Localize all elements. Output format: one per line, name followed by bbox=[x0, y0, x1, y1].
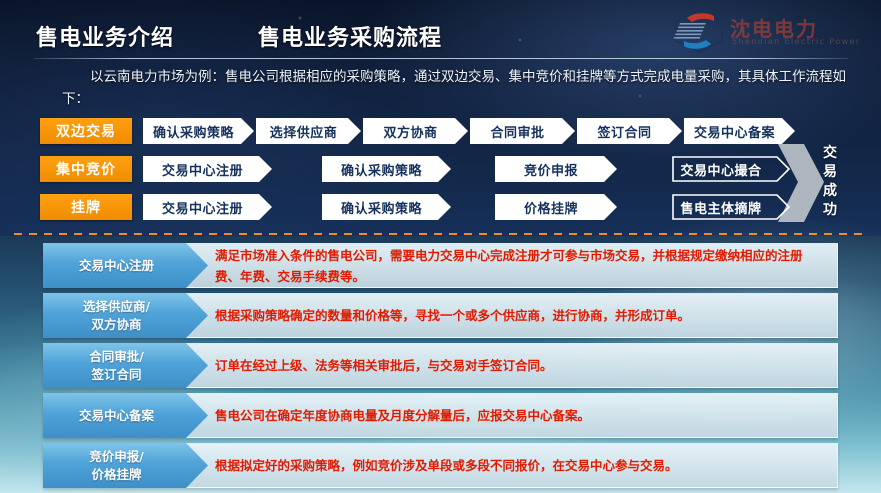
flow-step-1-6[interactable]: 交易中心备案 bbox=[684, 118, 795, 144]
hexagon-logo-icon bbox=[672, 8, 726, 54]
flow-row-3: 挂牌交易中心注册确认采购策略价格挂牌售电主体摘牌 bbox=[0, 194, 881, 220]
intro-text: 以云南电力市场为例：售电公司根据相应的采购策略，通过双边交易、集中竞价和挂牌等方… bbox=[62, 69, 846, 107]
panel-label-line2: 价格挂牌 bbox=[91, 466, 141, 484]
panel-label-line1: 交易中心注册 bbox=[79, 257, 154, 275]
step-description-row[interactable]: 合同审批/签订合同订单在经过上级、法务等相关审批后，与交易对手签订合同。 bbox=[43, 343, 838, 388]
page-subtitle: 售电业务采购流程 bbox=[258, 20, 442, 52]
flow-step-1-3[interactable]: 双方协商 bbox=[363, 118, 468, 144]
header: 售电业务介绍 售电业务采购流程 沈电电力 Shendian Electric P… bbox=[0, 0, 881, 62]
flow-row-tag[interactable]: 挂牌 bbox=[40, 194, 132, 220]
page-title: 售电业务介绍 bbox=[36, 20, 174, 52]
panel-label-line1: 交易中心备案 bbox=[79, 407, 154, 425]
flow-row-tag[interactable]: 双边交易 bbox=[40, 118, 132, 144]
panel-description: 订单在经过上级、法务等相关审批后，与交易对手签订合同。 bbox=[215, 343, 825, 388]
step-description-row[interactable]: 选择供应商/双方协商根据采购策略确定的数量和价格等，寻找一个或多个供应商，进行协… bbox=[43, 293, 838, 338]
flow-step-3-1[interactable]: 交易中心注册 bbox=[143, 194, 272, 220]
panel-description: 满足市场准入条件的售电公司，需要电力交易中心完成注册才可参与市场交易，并根据规定… bbox=[215, 243, 825, 288]
intro-paragraph: 以云南电力市场为例：售电公司根据相应的采购策略，通过双边交易、集中竞价和挂牌等方… bbox=[62, 66, 862, 110]
logo-text-en: Shendian Electric Power bbox=[732, 37, 861, 46]
step-description-row[interactable]: 竞价申报/价格挂牌根据拟定好的采购策略，例如竞价涉及单段或多段不同报价，在交易中… bbox=[43, 443, 838, 488]
flow-step-label: 售电主体摘牌 bbox=[672, 198, 780, 217]
panel-label: 合同审批/签订合同 bbox=[43, 343, 208, 388]
flow-step-2-4[interactable]: 交易中心撮合 bbox=[672, 156, 790, 182]
panel-description: 售电公司在确定年度协商电量及月度分解量后，应报交易中心备案。 bbox=[215, 393, 825, 438]
panel-label: 交易中心注册 bbox=[43, 243, 208, 288]
flow-row-2: 集中竞价交易中心注册确认采购策略竞价申报交易中心撮合 bbox=[0, 156, 881, 182]
flow-step-2-3[interactable]: 竞价申报 bbox=[495, 156, 617, 182]
panel-label-line2: 签订合同 bbox=[91, 366, 141, 384]
flow-step-1-5[interactable]: 签订合同 bbox=[577, 118, 682, 144]
flow-step-3-2[interactable]: 确认采购策略 bbox=[322, 194, 451, 220]
step-description-row[interactable]: 交易中心备案售电公司在确定年度协商电量及月度分解量后，应报交易中心备案。 bbox=[43, 393, 838, 438]
step-description-row[interactable]: 交易中心注册满足市场准入条件的售电公司，需要电力交易中心完成注册才可参与市场交易… bbox=[43, 243, 838, 288]
flow-step-2-2[interactable]: 确认采购策略 bbox=[322, 156, 451, 182]
company-logo: 沈电电力 Shendian Electric Power bbox=[672, 8, 872, 54]
panel-label-line2: 双方协商 bbox=[91, 316, 141, 334]
panel-description: 根据拟定好的采购策略，例如竞价涉及单段或多段不同报价，在交易中心参与交易。 bbox=[215, 443, 825, 488]
flow-step-1-4[interactable]: 合同审批 bbox=[470, 118, 575, 144]
panel-description: 根据采购策略确定的数量和价格等，寻找一个或多个供应商，进行协商，并形成订单。 bbox=[215, 293, 825, 338]
section-divider bbox=[14, 233, 867, 235]
panel-label-line1: 选择供应商/ bbox=[83, 298, 150, 316]
flow-step-3-4[interactable]: 售电主体摘牌 bbox=[672, 194, 790, 220]
flow-step-3-3[interactable]: 价格挂牌 bbox=[495, 194, 617, 220]
flow-step-label: 交易中心撮合 bbox=[672, 160, 780, 179]
flow-step-2-1[interactable]: 交易中心注册 bbox=[143, 156, 272, 182]
flow-row-tag[interactable]: 集中竞价 bbox=[40, 156, 132, 182]
flow-step-1-1[interactable]: 确认采购策略 bbox=[143, 118, 254, 144]
panel-label: 选择供应商/双方协商 bbox=[43, 293, 208, 338]
flow-step-1-2[interactable]: 选择供应商 bbox=[256, 118, 361, 144]
flow-row-1: 双边交易确认采购策略选择供应商双方协商合同审批签订合同交易中心备案 bbox=[0, 118, 881, 144]
panel-label: 竞价申报/价格挂牌 bbox=[43, 443, 208, 488]
panel-label: 交易中心备案 bbox=[43, 393, 208, 438]
panel-label-line1: 竞价申报/ bbox=[89, 448, 144, 466]
header-divider bbox=[34, 58, 848, 59]
procurement-flow-diagram: 交易成功 双边交易确认采购策略选择供应商双方协商合同审批签订合同交易中心备案集中… bbox=[0, 118, 881, 230]
panel-label-line1: 合同审批/ bbox=[89, 348, 144, 366]
